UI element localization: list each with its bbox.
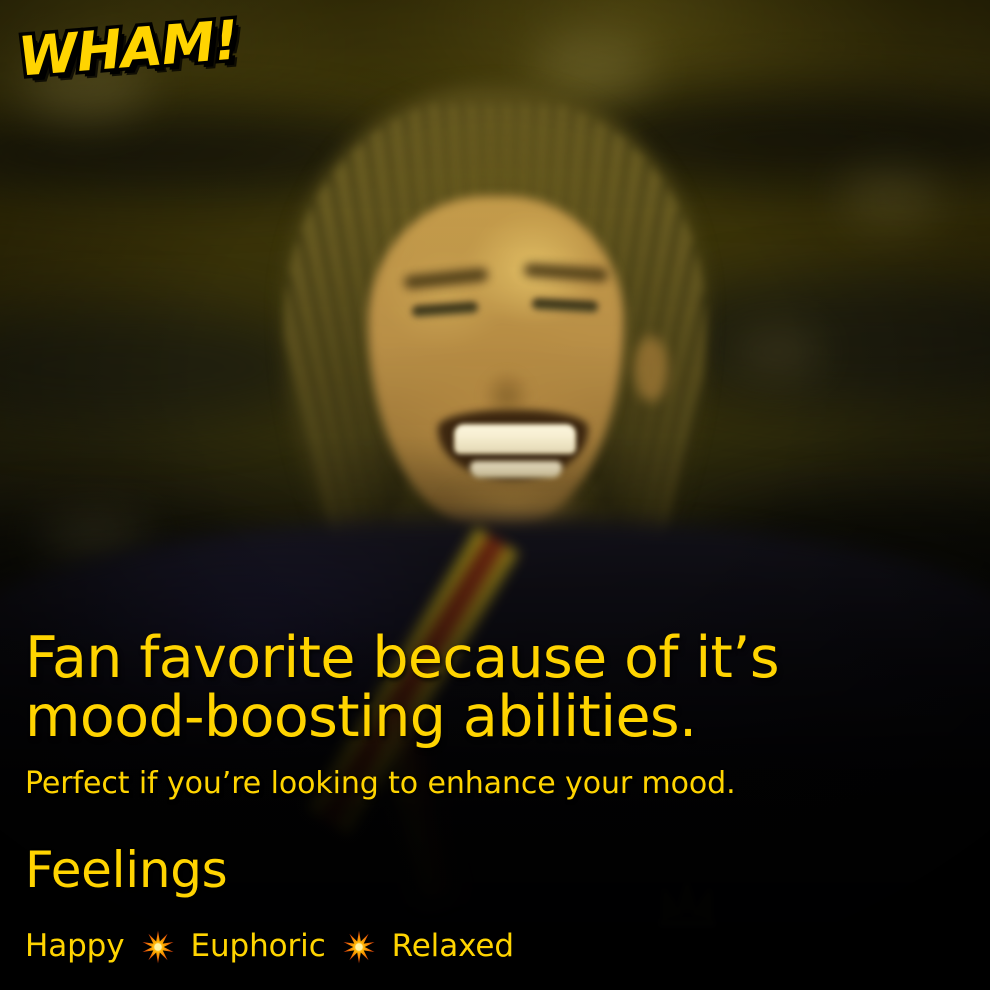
copy-block: Fan favorite because of it’s mood-boosti… <box>25 629 972 964</box>
feeling-tag: Happy <box>25 928 125 964</box>
headline: Fan favorite because of it’s mood-boosti… <box>25 629 972 748</box>
feeling-tag: Euphoric <box>191 928 326 964</box>
subject-nose <box>478 340 536 412</box>
subject-teeth-lower <box>470 461 562 478</box>
subject-teeth-upper <box>454 424 576 454</box>
brand-logo[interactable]: WHAM! <box>16 13 239 84</box>
promo-card: WHAM! Fan favorite because of it’s mood-… <box>0 0 990 990</box>
subheadline: Perfect if you’re looking to enhance you… <box>25 766 972 802</box>
brand-logo-wordmark: WHAM! <box>16 13 239 84</box>
collision-burst-icon <box>141 930 175 964</box>
subject-ear <box>634 336 668 402</box>
feeling-tag: Relaxed <box>392 928 514 964</box>
collision-burst-icon <box>342 930 376 964</box>
section-title-feelings: Feelings <box>25 844 972 897</box>
feelings-tag-row: HappyEuphoricRelaxed <box>25 928 972 964</box>
